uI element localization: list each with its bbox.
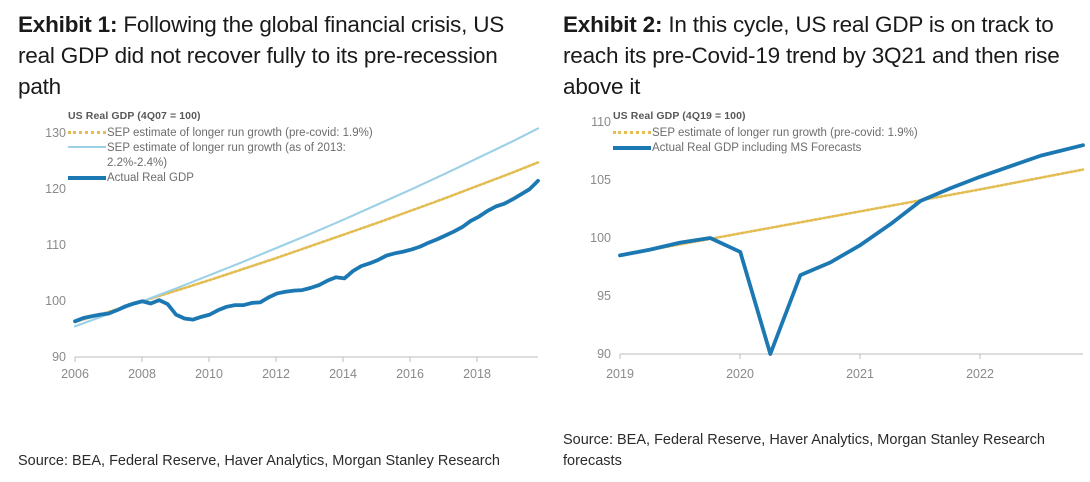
- svg-text:2018: 2018: [463, 367, 491, 381]
- series-sep-2013-1: [75, 128, 538, 326]
- svg-text:130: 130: [45, 126, 66, 140]
- svg-text:110: 110: [46, 238, 66, 252]
- x-axis-labels-2: 2019 2020 2021 2022: [606, 367, 994, 381]
- svg-text:100: 100: [590, 231, 611, 245]
- svg-text:95: 95: [597, 289, 611, 303]
- svg-text:2020: 2020: [726, 367, 754, 381]
- svg-text:2019: 2019: [606, 367, 634, 381]
- x-axis-ticks-2: [620, 354, 980, 359]
- svg-text:100: 100: [45, 294, 66, 308]
- svg-text:2016: 2016: [396, 367, 424, 381]
- exhibit-1-chart-svg: 130 120 110 100 90: [18, 108, 545, 398]
- series-actual-gdp-2: [620, 145, 1083, 354]
- series-sep-precovid-1: [75, 162, 538, 321]
- exhibit-1-chart: 130 120 110 100 90: [18, 108, 545, 398]
- exhibit-2-chart-svg: 110 105 100 95 90 2019 2020 2021: [563, 108, 1090, 398]
- svg-text:90: 90: [52, 350, 66, 364]
- exhibits-board: Exhibit 1: Following the global financia…: [0, 0, 1090, 482]
- svg-text:120: 120: [45, 182, 66, 196]
- exhibit-1-panel: Exhibit 1: Following the global financia…: [0, 0, 545, 482]
- exhibit-2-panel: Exhibit 2: In this cycle, US real GDP is…: [545, 0, 1090, 482]
- svg-text:2021: 2021: [846, 367, 874, 381]
- y-axis-labels-2: 110 105 100 95 90: [590, 115, 611, 361]
- exhibit-2-chart: 110 105 100 95 90 2019 2020 2021: [563, 108, 1090, 398]
- exhibit-1-lead: Exhibit 1:: [18, 12, 117, 37]
- svg-text:2014: 2014: [329, 367, 357, 381]
- svg-text:2012: 2012: [262, 367, 290, 381]
- exhibit-2-title: Exhibit 2: In this cycle, US real GDP is…: [563, 9, 1073, 102]
- y-axis-labels-1: 130 120 110 100 90: [45, 126, 66, 364]
- svg-text:2006: 2006: [61, 367, 89, 381]
- svg-text:2022: 2022: [966, 367, 994, 381]
- exhibit-1-title: Exhibit 1: Following the global financia…: [18, 9, 528, 102]
- exhibit-2-source: Source: BEA, Federal Reserve, Haver Anal…: [563, 430, 1063, 472]
- svg-text:2008: 2008: [128, 367, 156, 381]
- svg-text:90: 90: [597, 347, 611, 361]
- x-axis-ticks-1: [75, 357, 477, 362]
- svg-text:110: 110: [591, 115, 611, 129]
- series-actual-gdp-1: [75, 181, 538, 321]
- x-axis-labels-1: 2006 2008 2010 2012 2014 2016 2018: [61, 367, 491, 381]
- svg-text:2010: 2010: [195, 367, 223, 381]
- svg-text:105: 105: [590, 173, 611, 187]
- exhibit-2-lead: Exhibit 2:: [563, 12, 662, 37]
- exhibit-1-source: Source: BEA, Federal Reserve, Haver Anal…: [18, 451, 518, 472]
